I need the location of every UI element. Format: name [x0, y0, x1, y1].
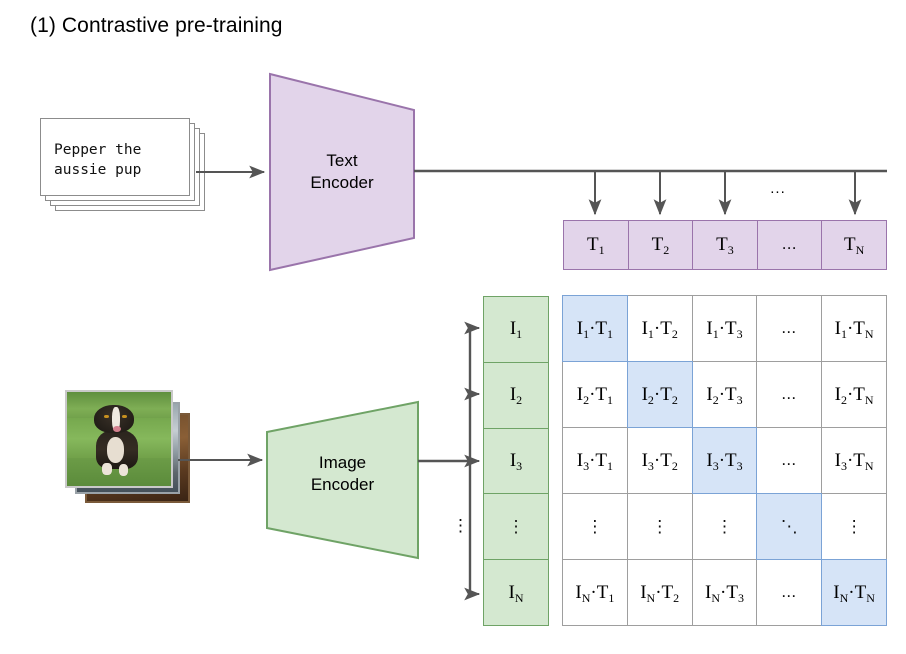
text-embedding-cell-n: TN [821, 220, 887, 270]
embedding-label: IN [509, 582, 524, 604]
text-encoder-block[interactable]: Text Encoder [268, 72, 416, 272]
horizontal-ellipsis-glyph: ... [782, 320, 797, 338]
figure-canvas: (1) Contrastive pre-training Pepper the … [0, 0, 906, 654]
image-encoder-label-line1: Image [265, 452, 420, 474]
dot-product-label: I1·T1 [577, 318, 613, 340]
image-encoder-label: Image Encoder [265, 452, 420, 496]
image-embedding-cell-3: I3 [483, 428, 549, 495]
matrix-cell-r1-c5: I1·TN [821, 295, 887, 362]
dot-product-label: IN·T2 [640, 582, 679, 604]
similarity-matrix: I1·T1I1·T2I1·T3...I1·TNI2·T1I2·T2I2·T3..… [563, 296, 887, 626]
dot-product-label: I2·T1 [577, 384, 613, 406]
matrix-cell-r4-c2: ⋮ [627, 493, 693, 560]
matrix-cell-r3-c1: I3·T1 [562, 427, 628, 494]
dot-product-label: I3·T1 [577, 450, 613, 472]
diagonal-ellipsis-glyph: ⋱ [781, 517, 798, 537]
image-embedding-column: I1I2I3⋮IN [483, 296, 549, 626]
text-encoder-label-line1: Text [268, 150, 416, 172]
matrix-cell-r1-c2: I1·T2 [627, 295, 693, 362]
top-row-ellipsis: ... [766, 180, 790, 197]
embedding-label: T3 [716, 234, 734, 256]
matrix-cell-r5-c2: IN·T2 [627, 559, 693, 626]
text-embedding-cell-ellipsis: ... [757, 220, 823, 270]
ellipsis-glyph: ... [782, 236, 797, 254]
photo-dog-eye-right [122, 415, 127, 419]
matrix-cell-r5-c1: IN·T1 [562, 559, 628, 626]
figure-title: (1) Contrastive pre-training [30, 14, 283, 38]
matrix-cell-r4-c4: ⋱ [756, 493, 822, 560]
matrix-cell-r5-c4: ... [756, 559, 822, 626]
matrix-cell-r2-c4: ... [756, 361, 822, 428]
dot-product-label: IN·TN [833, 582, 875, 604]
horizontal-ellipsis-glyph: ... [782, 452, 797, 470]
vertical-ellipsis-glyph: ⋮ [846, 517, 863, 537]
embedding-label: I1 [510, 318, 522, 340]
matrix-cell-r3-c2: I3·T2 [627, 427, 693, 494]
i-column-left-ellipsis: ⋮ [452, 516, 466, 536]
text-embedding-cell-3: T3 [692, 220, 758, 270]
text-encoder-label: Text Encoder [268, 150, 416, 194]
dot-product-label: I2·T3 [706, 384, 742, 406]
matrix-cell-r2-c1: I2·T1 [562, 361, 628, 428]
image-embedding-cell-2: I2 [483, 362, 549, 429]
matrix-cell-r4-c3: ⋮ [692, 493, 758, 560]
matrix-cell-r5-c3: IN·T3 [692, 559, 758, 626]
dot-product-label: I3·T3 [706, 450, 742, 472]
text-embedding-cell-2: T2 [628, 220, 694, 270]
matrix-cell-r2-c5: I2·TN [821, 361, 887, 428]
image-encoder-label-line2: Encoder [265, 474, 420, 496]
photo-dog-paw-left [102, 463, 111, 474]
dot-product-label: I1·T3 [706, 318, 742, 340]
dot-product-label: IN·T1 [575, 582, 614, 604]
matrix-cell-r1-c1: I1·T1 [562, 295, 628, 362]
matrix-cell-r4-c1: ⋮ [562, 493, 628, 560]
dot-product-label: I3·T2 [642, 450, 678, 472]
matrix-cell-r2-c2: I2·T2 [627, 361, 693, 428]
caption-line-1: Pepper the [54, 142, 141, 158]
image-embedding-cell-ellipsis: ⋮ [483, 493, 549, 560]
image-embedding-cell-1: I1 [483, 296, 549, 363]
vertical-ellipsis-glyph: ⋮ [651, 517, 668, 537]
matrix-cell-r3-c3: I3·T3 [692, 427, 758, 494]
embedding-label: T1 [587, 234, 605, 256]
horizontal-ellipsis-glyph: ... [782, 584, 797, 602]
matrix-cell-r1-c3: I1·T3 [692, 295, 758, 362]
vertical-ellipsis-glyph: ⋮ [586, 517, 603, 537]
matrix-cell-r3-c4: ... [756, 427, 822, 494]
image-encoder-block[interactable]: Image Encoder [265, 400, 420, 560]
i-column-left-ellipsis-glyph: ⋮ [452, 516, 469, 535]
matrix-cell-r5-c5: IN·TN [821, 559, 887, 626]
text-embedding-cell-1: T1 [563, 220, 629, 270]
matrix-cell-r4-c5: ⋮ [821, 493, 887, 560]
photo-dog-chest [107, 437, 125, 463]
horizontal-ellipsis-glyph: ... [782, 386, 797, 404]
matrix-cell-r3-c5: I3·TN [821, 427, 887, 494]
matrix-cell-r2-c3: I2·T3 [692, 361, 758, 428]
caption-text: Pepper the aussie pup [54, 140, 184, 180]
matrix-cell-r1-c4: ... [756, 295, 822, 362]
embedding-label: I3 [510, 450, 522, 472]
text-embedding-row: T1T2T3...TN [563, 220, 887, 270]
dot-product-label: I2·T2 [642, 384, 678, 406]
vertical-ellipsis-glyph: ⋮ [716, 517, 733, 537]
dot-product-label: IN·T3 [705, 582, 744, 604]
embedding-label: TN [844, 234, 864, 256]
photo-dog-paw-right [119, 464, 128, 475]
caption-line-2: aussie pup [54, 162, 141, 178]
dot-product-label: I3·TN [835, 450, 874, 472]
dot-product-label: I1·TN [835, 318, 874, 340]
dot-product-label: I2·TN [835, 384, 874, 406]
image-embedding-cell-n: IN [483, 559, 549, 626]
image-card-front-puppy-photo [65, 390, 173, 488]
embedding-label: I2 [510, 384, 522, 406]
embedding-label: T2 [652, 234, 670, 256]
dot-product-label: I1·T2 [642, 318, 678, 340]
ellipsis-glyph: ⋮ [508, 517, 525, 537]
text-encoder-label-line2: Encoder [268, 172, 416, 194]
